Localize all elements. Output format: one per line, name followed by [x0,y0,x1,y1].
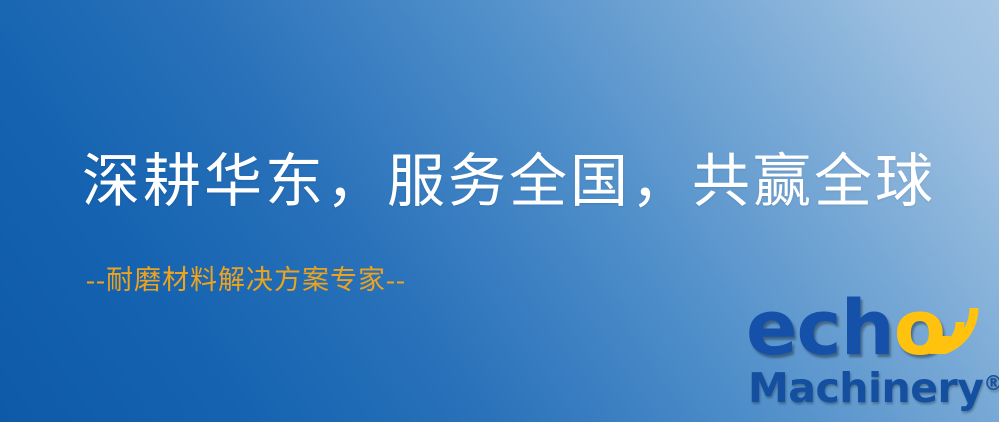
signal-arcs-icon [928,292,998,354]
echo-machinery-logo: echo Machinery® [742,296,999,422]
logo-word-echo: echo [746,290,945,366]
banner-subheadline: --耐磨材料解决方案专家-- [86,266,406,296]
logo-tagline: Machinery® [748,368,999,409]
registered-trademark-icon: ® [983,371,999,395]
logo-word-ech: ech [746,283,894,372]
banner-headline: 深耕华东，服务全国，共赢全球 [82,152,936,213]
promo-banner: 深耕华东，服务全国，共赢全球 --耐磨材料解决方案专家-- echo [0,0,999,422]
logo-tagline-text: Machinery [748,364,983,412]
